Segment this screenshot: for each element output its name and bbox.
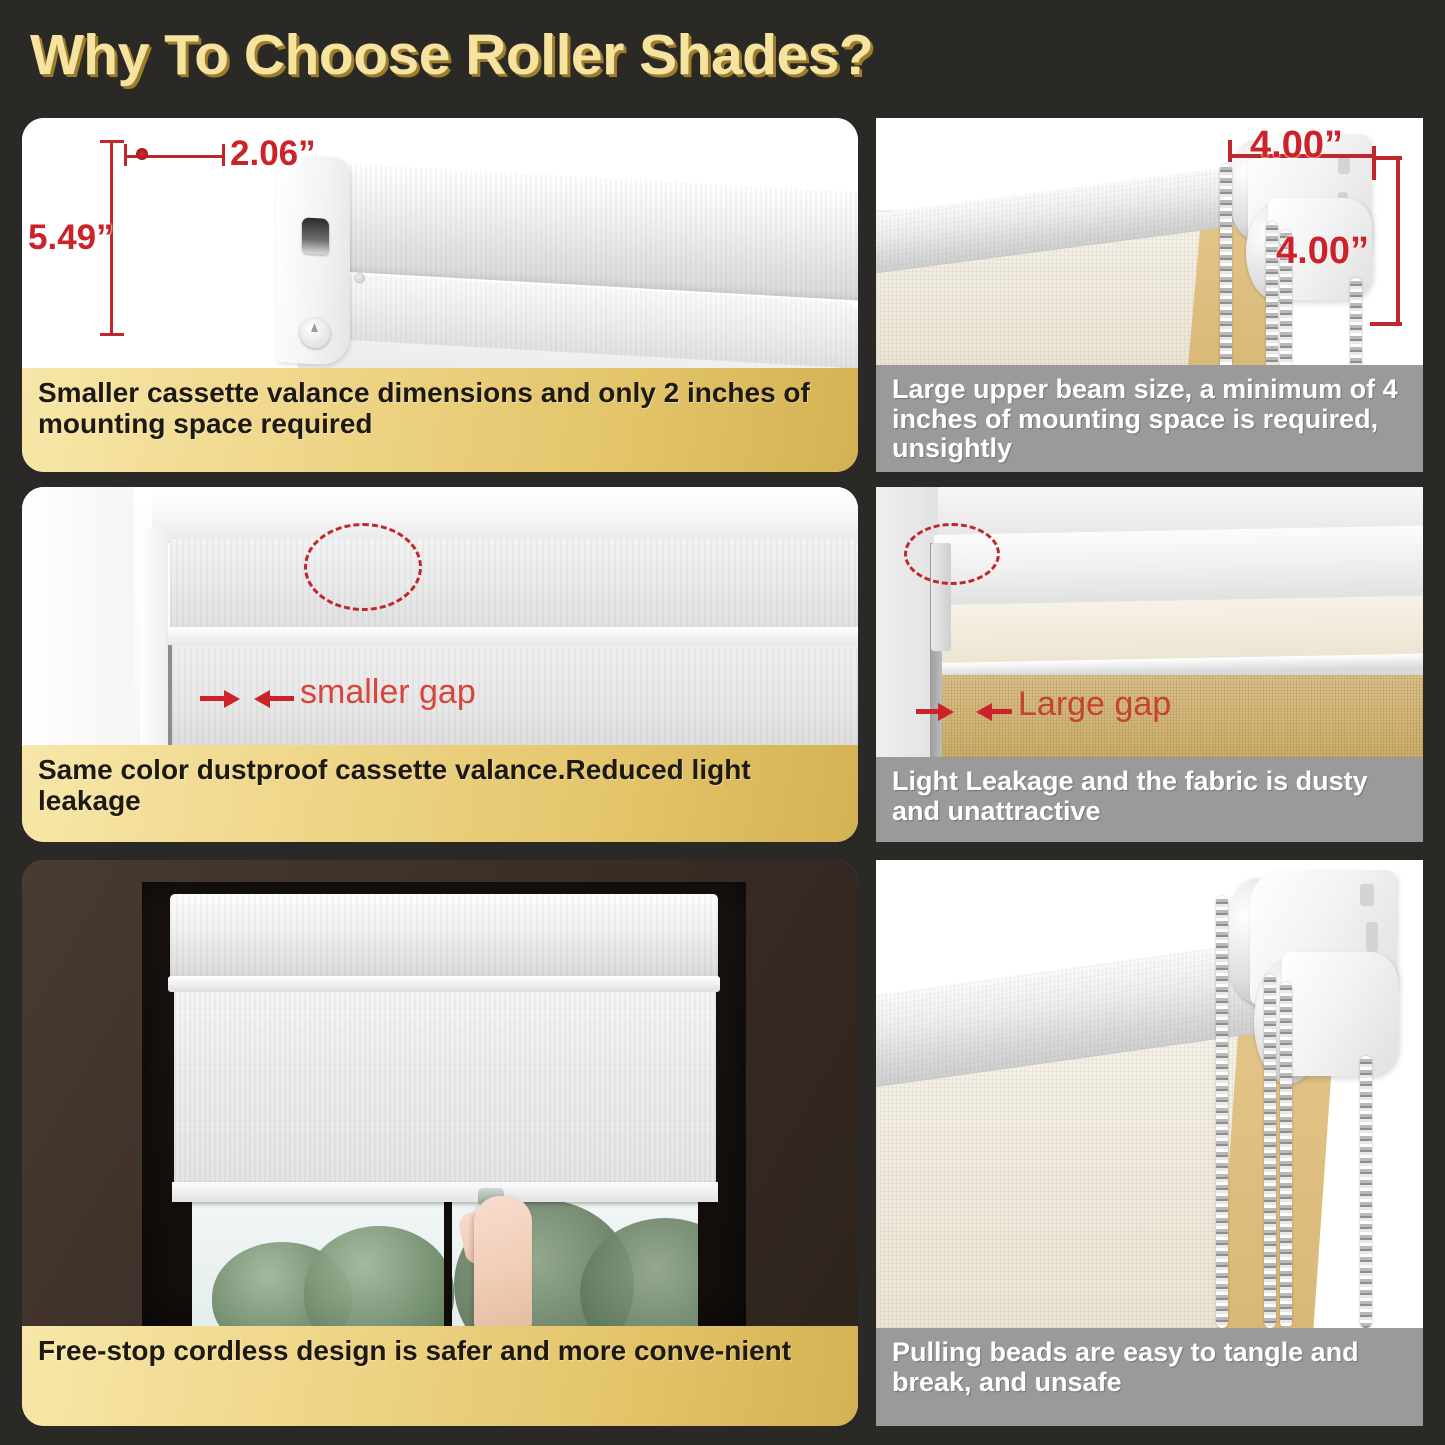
competitor-roller-illustration: 4.00” 4.00”	[876, 118, 1423, 365]
beam-height-dimension-line	[1396, 156, 1400, 326]
panel-2-photo: 4.00” 4.00”	[876, 118, 1423, 365]
gap-arrow-tail-left	[200, 696, 226, 701]
window-mullion	[444, 1190, 452, 1326]
beam-width-label: 4.00”	[1250, 124, 1343, 167]
gap-arrow-right-icon	[224, 690, 240, 708]
panel-smaller-cassette: 5.49” 2.06” Smaller cassette valance dim…	[22, 118, 858, 472]
width-dimension-label: 2.06”	[230, 134, 316, 174]
hand	[474, 1196, 532, 1326]
mount-point-dot-icon	[136, 148, 148, 160]
highlight-circle-annotation	[904, 523, 1000, 585]
panel-1-caption: Smaller cassette valance dimensions and …	[22, 368, 858, 472]
window-scene-illustration	[22, 860, 858, 1326]
mounting-bracket-lower	[1282, 952, 1398, 1076]
roller-shade-fabric	[174, 992, 716, 1198]
beam-height-label: 4.00”	[1276, 230, 1369, 273]
panel-large-upper-beam: 4.00” 4.00” Large upper beam size, a min…	[876, 118, 1423, 472]
panel-dustproof-valance: smaller gap Same color dustproof cassett…	[22, 487, 858, 842]
window-jamb	[140, 527, 168, 745]
cassette-valance-illustration: 5.49” 2.06”	[22, 118, 858, 368]
gap-label: Large gap	[1018, 685, 1171, 724]
competitor-beads-illustration	[876, 860, 1423, 1328]
frame-moulding	[152, 487, 858, 543]
infographic-page: Why To Choose Roller Shades? 5.49”	[0, 0, 1445, 1445]
panel-6-photo	[876, 860, 1423, 1328]
cassette-valance	[170, 894, 718, 980]
panel-5-photo	[22, 860, 858, 1326]
beam-width-tick-left	[1228, 140, 1232, 162]
width-dimension-tick-right	[222, 144, 225, 166]
panel-1-photo: 5.49” 2.06”	[22, 118, 858, 368]
gap-arrow-tail-right	[990, 709, 1012, 714]
beam-height-tick-top	[1374, 156, 1402, 160]
panel-light-leakage: Large gap Light Leakage and the fabric i…	[876, 487, 1423, 842]
panel-cordless-design: Free-stop cordless design is safer and m…	[22, 860, 858, 1426]
competitor-gap-illustration: Large gap	[876, 487, 1423, 757]
panel-3-photo: smaller gap	[22, 487, 858, 745]
bead-chain-4	[1350, 278, 1362, 365]
window-glass	[192, 1190, 698, 1326]
panel-2-caption: Large upper beam size, a minimum of 4 in…	[876, 365, 1423, 472]
height-dimension-label: 5.49”	[28, 218, 114, 258]
panel-5-caption: Free-stop cordless design is safer and m…	[22, 1326, 858, 1426]
panel-4-photo: Large gap	[876, 487, 1423, 757]
panel-6-caption: Pulling beads are easy to tangle and bre…	[876, 1328, 1423, 1426]
wall-surface	[22, 487, 152, 745]
bead-chain-1	[1216, 896, 1228, 1328]
width-dimension-tick-left	[124, 144, 127, 166]
bead-chain-2	[1264, 974, 1276, 1328]
bracket-tab-top	[1360, 884, 1374, 906]
page-title: Why To Choose Roller Shades?	[30, 22, 873, 88]
cassette-lip	[168, 976, 720, 992]
panel-4-caption: Light Leakage and the fabric is dusty an…	[876, 757, 1423, 842]
gap-label: smaller gap	[300, 673, 476, 712]
gap-arrow-tail-left	[916, 709, 940, 714]
window-frame-illustration: smaller gap	[22, 487, 858, 745]
beam-width-tick-right	[1372, 146, 1376, 180]
bead-chain-1	[1220, 164, 1232, 365]
bead-chain-4	[1360, 1056, 1372, 1328]
gap-arrow-tail-right	[268, 696, 294, 701]
bracket-tab-mid	[1366, 922, 1378, 952]
bead-chain-3	[1280, 982, 1292, 1328]
highlight-circle-annotation	[304, 523, 422, 611]
shade-upper-section	[170, 539, 858, 629]
gap-arrow-right-icon	[938, 703, 954, 721]
shade-bottom-bar	[172, 1182, 718, 1202]
khaki-fabric	[942, 675, 1423, 757]
panel-3-caption: Same color dustproof cassette valance.Re…	[22, 745, 858, 842]
panel-pulling-beads: Pulling beads are easy to tangle and bre…	[876, 860, 1423, 1426]
cassette-lip	[168, 627, 858, 645]
height-dimension-tick-top	[100, 140, 124, 143]
gap-edge	[168, 645, 172, 745]
beam-height-tick-bottom	[1370, 322, 1402, 326]
end-cap-screw-icon	[354, 272, 365, 284]
height-dimension-tick-bottom	[100, 333, 124, 336]
end-cap-slot-icon	[302, 217, 329, 255]
